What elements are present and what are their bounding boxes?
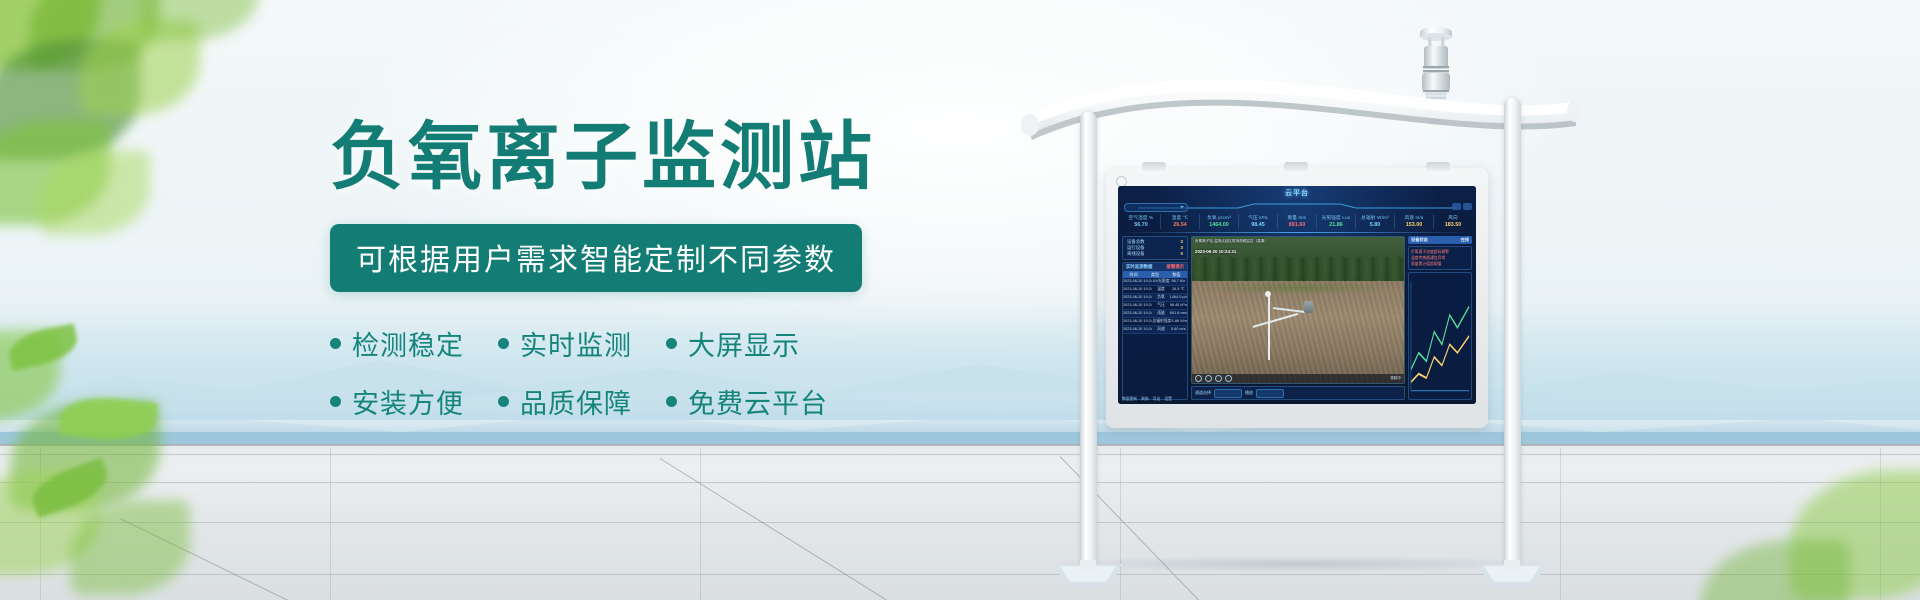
alert-list[interactable]: 负氧离子浓度超标预警 温度传感器通信异常 雨量累计值超阈值	[1408, 246, 1472, 270]
display-housing: 云平台 空气湿度 % 56.70	[1106, 168, 1488, 428]
subtitle-pill: 可根据用户需求智能定制不同参数	[330, 224, 862, 292]
alert-item: 雨量累计值超阈值	[1411, 261, 1469, 267]
table-row[interactable]: 2023-06-20 10:24:31 气压 98.45 kPa	[1123, 302, 1187, 310]
feature-row: 安装方便 品质保障 免费云平台	[330, 382, 890, 421]
kpi-card: 空气湿度 % 56.70	[1122, 214, 1161, 229]
table-row[interactable]: 2023-06-20 10:24:31 UV光照度 56.7 Klx	[1123, 278, 1187, 286]
feature-item: 品质保障	[498, 382, 632, 421]
table-row[interactable]: 2023-06-20 10:24:31 风速 5.80 m/s	[1123, 326, 1187, 334]
table-columns: 时间 类型 数值	[1123, 271, 1187, 278]
kpi-divider	[1122, 232, 1472, 233]
camera-feed[interactable]: 负氧离子站 监测点站区现场视频监控（高清） 2023-06-20 10:24:3…	[1191, 236, 1405, 384]
cell-type: 气压	[1152, 302, 1169, 309]
cell-type: 负氧	[1152, 294, 1169, 301]
realtime-data-table[interactable]: 实时监测数据 报警提示 时间 类型 数值 2023-06-20 10:24:31…	[1122, 262, 1188, 400]
mini-stat-value: 0	[1181, 251, 1183, 257]
housing-bracket	[1284, 162, 1308, 171]
kpi-label: 温度 ℃	[1161, 214, 1199, 221]
kpi-value: 1464.00	[1200, 221, 1238, 229]
kpi-card: 风速 m/s 153.00	[1395, 214, 1434, 229]
feature-list: 检测稳定 实时监测 大屏显示 安装方便 品质保障	[330, 324, 890, 421]
cell-value: 5.80 m/s	[1170, 326, 1187, 333]
table-row[interactable]: 2023-06-20 10:24:31 温度 26.5 ℃	[1123, 286, 1187, 294]
kpi-label: 风速 m/s	[1395, 214, 1433, 221]
fullscreen-icon[interactable]	[1225, 375, 1232, 382]
kpi-card: 总辐射 W/m² 5.80	[1356, 214, 1395, 229]
banner-copy: 负氧离子监测站 可根据用户需求智能定制不同参数 检测稳定 实时监测 大屏显示	[330, 120, 890, 440]
kpi-value: 183.50	[1434, 221, 1472, 229]
cell-type: UV光照度	[1152, 278, 1169, 285]
cell-value: 891.6 mm	[1170, 310, 1187, 317]
device-summary: 设备总数 3 运行设备 3 离线设备 0	[1122, 236, 1188, 260]
right-panel-status: 在线	[1461, 237, 1469, 243]
record-status: 录制中	[1390, 376, 1401, 381]
table-row[interactable]: 2023-06-20 10:24:31 雨量 891.6 mm	[1123, 310, 1187, 318]
pause-icon[interactable]	[1205, 375, 1212, 382]
cell-value: 21.86 W/m²	[1170, 318, 1187, 325]
kiosk-post-left	[1080, 112, 1097, 570]
bullet-dot-icon	[666, 396, 677, 407]
camera-station-mast	[1268, 295, 1270, 359]
bullet-dot-icon	[498, 338, 509, 349]
feature-item: 实时监测	[498, 324, 632, 363]
dashboard-screen[interactable]: 云平台 空气湿度 % 56.70	[1118, 186, 1476, 404]
right-panel-title: 设备状态	[1411, 237, 1428, 243]
cell-value: 98.45 kPa	[1170, 302, 1187, 309]
feature-label: 安装方便	[352, 382, 464, 421]
kpi-label: 风向	[1434, 214, 1472, 221]
kiosk-canopy	[1020, 68, 1580, 168]
device-summary-row: 离线设备 0	[1125, 251, 1185, 257]
kpi-value: 21.86	[1317, 221, 1355, 229]
kpi-value: 5.80	[1356, 221, 1394, 229]
kpi-card: 气压 kPa 98.45	[1239, 214, 1278, 229]
kpi-value: 98.45	[1239, 221, 1277, 229]
kpi-label: 气压 kPa	[1239, 214, 1277, 221]
camera-station-enclosure	[1304, 301, 1313, 313]
kpi-value: 56.70	[1122, 221, 1160, 229]
kpi-card: 温度 ℃ 26.54	[1161, 214, 1200, 229]
camera-toolbar[interactable]: 录制中	[1192, 374, 1404, 383]
page-title: 负氧离子监测站	[330, 120, 890, 194]
screen-footer[interactable]: 数据更新 刷新 导出 设置	[1122, 396, 1472, 403]
column-header: 时间	[1123, 271, 1144, 278]
kpi-label: 雨量 mm	[1278, 214, 1316, 221]
cell-time: 2023-06-20 10:24:31	[1123, 302, 1152, 309]
screen-top-badges[interactable]	[1452, 203, 1472, 210]
feature-label: 品质保障	[520, 382, 632, 421]
monitoring-station-kiosk: 云平台 空气湿度 % 56.70	[1020, 20, 1580, 600]
alert-badge: 报警提示	[1166, 264, 1184, 270]
cell-time: 2023-06-20 10:24:31	[1123, 326, 1152, 333]
kpi-card: 光照强度 Lux 21.86	[1317, 214, 1356, 229]
feature-label: 实时监测	[520, 324, 632, 363]
feature-label: 免费云平台	[688, 382, 828, 421]
kpi-value: 26.54	[1161, 221, 1199, 229]
negative-ion-monitoring-station-banner: 负氧离子监测站 可根据用户需求智能定制不同参数 检测稳定 实时监测 大屏显示	[0, 0, 1920, 600]
cell-time: 2023-06-20 10:24:31	[1123, 294, 1152, 301]
kpi-label: 光照强度 Lux	[1317, 214, 1355, 221]
bullet-dot-icon	[498, 396, 509, 407]
footer-action[interactable]: 刷新	[1141, 397, 1149, 402]
screen-main-area: 设备总数 3 运行设备 3 离线设备 0	[1122, 236, 1472, 400]
right-panel-header: 设备状态 在线	[1408, 236, 1472, 244]
kpi-card: 雨量 mm 891.60	[1278, 214, 1317, 229]
camera-osd-line1: 负氧离子站 监测点站区现场视频监控（高清）	[1195, 239, 1268, 244]
cell-value: 26.5 ℃	[1170, 286, 1187, 293]
kpi-value: 891.60	[1278, 221, 1316, 229]
table-row[interactable]: 2023-06-20 10:24:31 负氧 1464.0 p/cm³	[1123, 294, 1187, 302]
housing-bracket	[1426, 162, 1450, 171]
kiosk-base-plate-left	[1050, 560, 1126, 588]
trend-chart	[1408, 272, 1472, 400]
cell-time: 2023-06-20 10:24:31	[1123, 286, 1152, 293]
horizon-haze	[0, 300, 1920, 420]
column-header: 类型	[1144, 271, 1165, 278]
cell-type: 总辐射强度	[1152, 318, 1169, 325]
column-header: 数值	[1166, 271, 1187, 278]
kpi-label: 负氧 p/cm³	[1200, 214, 1238, 221]
kpi-card: 风向 183.50	[1434, 214, 1472, 229]
kpi-label: 总辐射 W/m²	[1356, 214, 1394, 221]
left-panel: 设备总数 3 运行设备 3 离线设备 0	[1122, 236, 1188, 400]
feature-item: 免费云平台	[666, 382, 828, 421]
table-title: 实时监测数据	[1126, 264, 1152, 270]
right-panel: 设备状态 在线 负氧离子浓度超标预警 温度传感器通信异常 雨量累计值超阈值	[1408, 236, 1472, 400]
cell-time: 2023-06-20 10:24:31	[1123, 318, 1152, 325]
kiosk-post-right	[1504, 98, 1521, 570]
screen-badge-icon[interactable]	[1452, 203, 1461, 210]
cell-type: 雨量	[1152, 310, 1169, 317]
footer-action[interactable]: 数据更新	[1122, 397, 1137, 402]
station-select[interactable]	[1124, 203, 1188, 212]
cell-value: 1464.0 p/cm³	[1170, 294, 1187, 301]
table-header: 实时监测数据 报警提示	[1123, 263, 1187, 271]
feature-item: 检测稳定	[330, 324, 464, 363]
cell-time: 2023-06-20 10:24:31	[1123, 278, 1152, 285]
snapshot-icon[interactable]	[1215, 375, 1222, 382]
bullet-dot-icon	[330, 396, 341, 407]
bullet-dot-icon	[666, 338, 677, 349]
play-icon[interactable]	[1195, 375, 1202, 382]
table-row[interactable]: 2023-06-20 10:24:31 总辐射强度 21.86 W/m²	[1123, 318, 1187, 326]
feature-item: 安装方便	[330, 382, 464, 421]
kpi-strip: 空气湿度 % 56.70 温度 ℃ 26.54 负氧 p/cm³ 1464.00…	[1122, 214, 1472, 229]
housing-bracket	[1142, 162, 1166, 171]
feature-row: 检测稳定 实时监测 大屏显示	[330, 324, 890, 363]
footer-action[interactable]: 设置	[1164, 397, 1172, 402]
cell-value: 56.7 Klx	[1170, 278, 1187, 285]
plaza-tiles	[0, 448, 1920, 600]
kpi-value: 153.00	[1395, 221, 1433, 229]
feature-item: 大屏显示	[666, 324, 800, 363]
cell-type: 风速	[1152, 326, 1169, 333]
feature-label: 检测稳定	[352, 324, 464, 363]
cell-time: 2023-06-20 10:24:31	[1123, 310, 1152, 317]
footer-action[interactable]: 导出	[1153, 397, 1161, 402]
kiosk-base-plate-right	[1474, 560, 1550, 588]
feature-label: 大屏显示	[688, 324, 800, 363]
camera-field	[1192, 281, 1404, 383]
mini-stat-label: 离线设备	[1127, 251, 1145, 257]
kpi-card: 负氧 p/cm³ 1464.00	[1200, 214, 1239, 229]
cell-type: 温度	[1152, 286, 1169, 293]
camera-osd-line2: 2023-06-20 10:24:31	[1195, 249, 1236, 254]
kpi-label: 空气湿度 %	[1122, 214, 1160, 221]
screen-badge-icon[interactable]	[1463, 203, 1472, 210]
bullet-dot-icon	[330, 338, 341, 349]
center-panel: 负氧离子站 监测点站区现场视频监控（高清） 2023-06-20 10:24:3…	[1191, 236, 1405, 400]
